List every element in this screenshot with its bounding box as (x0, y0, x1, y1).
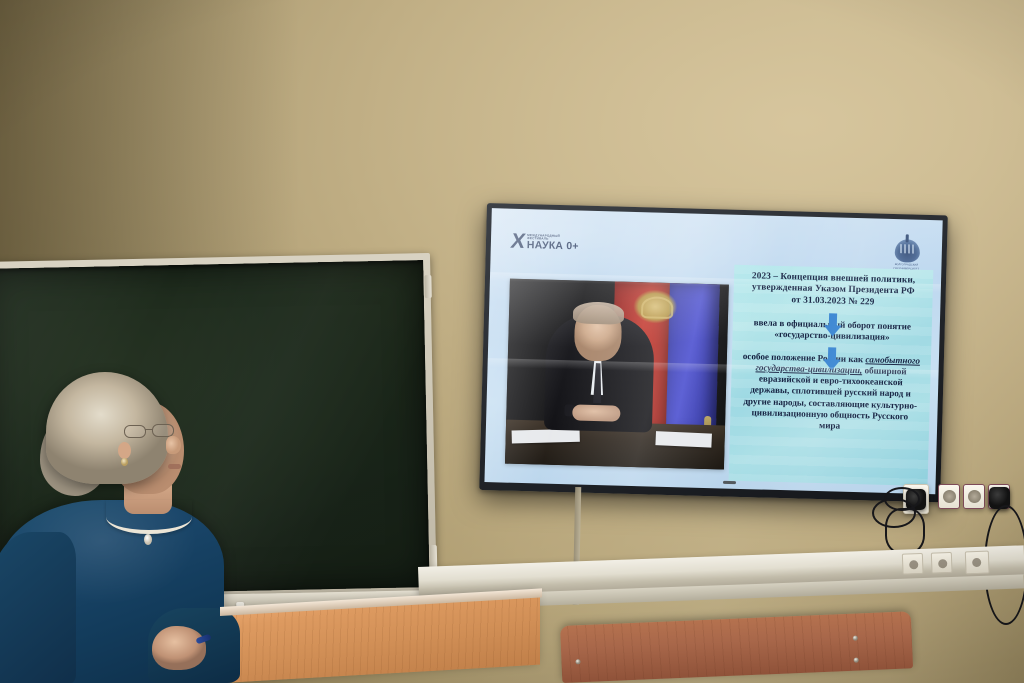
presenter-hand (152, 626, 206, 670)
glasses-bridge (145, 429, 152, 430)
presenter-shoulder-left (0, 532, 76, 683)
pearl-necklace (106, 500, 192, 534)
necklace-pendant (144, 534, 152, 545)
lecture-room-photo: X МЕЖДУНАРОДНЫЙ ФЕСТИВАЛЬ НАУКА 0+ ВОЛГО… (0, 0, 1024, 683)
presenter-glasses (124, 424, 174, 439)
presenter-ear (118, 442, 131, 459)
presenter-mouth (168, 464, 181, 469)
presenter (20, 372, 250, 683)
presenter-nose (166, 436, 181, 454)
glasses-lens-left (124, 425, 146, 438)
presenter-earring (121, 458, 128, 466)
